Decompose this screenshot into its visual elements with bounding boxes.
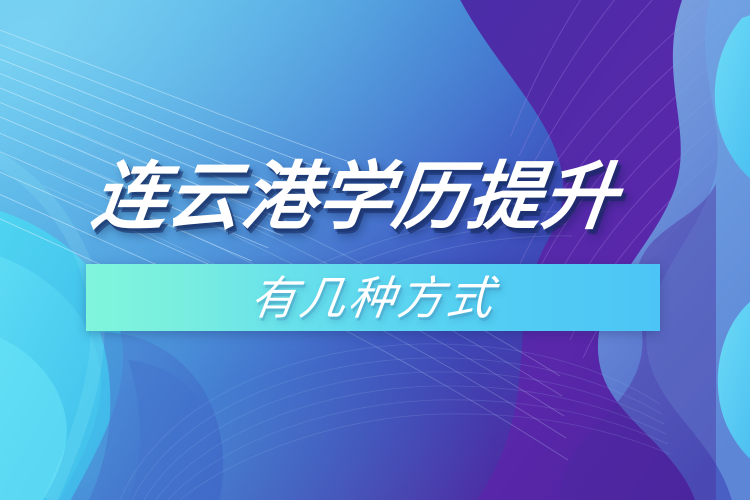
background-artwork (0, 0, 750, 500)
promo-banner: 连云港学历提升 有几种方式 (0, 0, 750, 500)
banner-subtitle-bar: 有几种方式 (86, 264, 660, 331)
banner-subtitle: 有几种方式 (247, 275, 498, 321)
